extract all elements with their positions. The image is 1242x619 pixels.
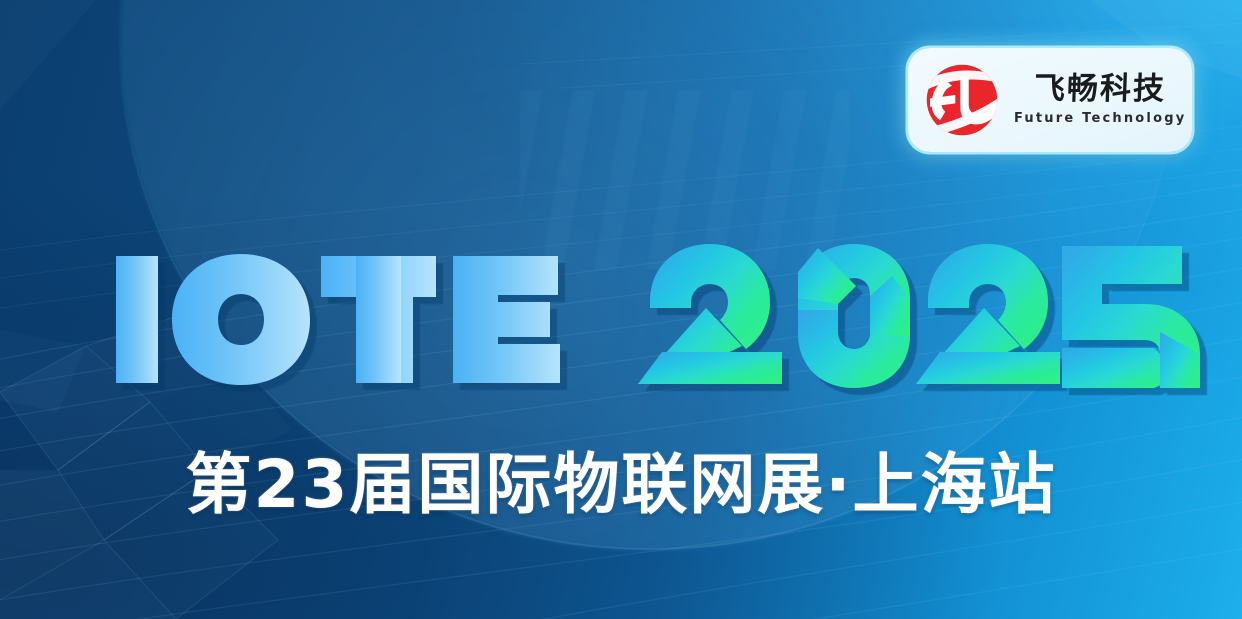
page-subtitle: 第23届国际物联网展·上海站 (0, 452, 1242, 518)
headline-artwork (110, 242, 1100, 397)
headline-year-digits (638, 244, 1200, 388)
fc-monogram-globe-icon (920, 58, 1004, 142)
iote-2025-banner: 飞畅科技 Future Technology (0, 0, 1242, 619)
logo-name-en: Future Technology (1014, 112, 1186, 125)
company-logo-badge[interactable]: 飞畅科技 Future Technology (908, 48, 1192, 152)
logo-name-cn: 飞畅科技 (1034, 74, 1167, 105)
headline-iote-2025 (110, 242, 1100, 397)
logo-wordmark: 飞畅科技 Future Technology (1014, 74, 1186, 127)
headline-iote-letters (116, 254, 560, 385)
